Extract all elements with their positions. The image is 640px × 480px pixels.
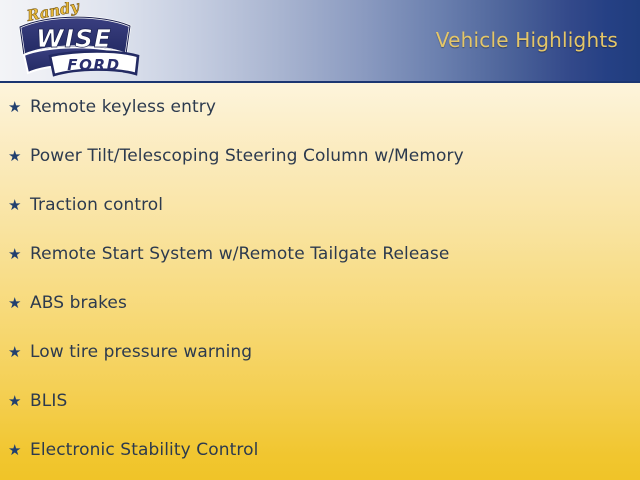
list-item: ★ Electronic Stability Control bbox=[8, 437, 258, 463]
list-item-label: Remote keyless entry bbox=[30, 99, 216, 116]
vehicle-highlights-list: ★ Remote keyless entry ★ Power Tilt/Tele… bbox=[0, 83, 640, 480]
star-bullet-icon: ★ bbox=[8, 247, 30, 262]
list-item-label: Traction control bbox=[30, 197, 163, 214]
star-bullet-icon: ★ bbox=[8, 149, 30, 164]
list-item-label: Low tire pressure warning bbox=[30, 344, 252, 361]
list-item: ★ Remote Start System w/Remote Tailgate … bbox=[8, 241, 449, 267]
list-item: ★ ABS brakes bbox=[8, 290, 127, 316]
list-item-label: Remote Start System w/Remote Tailgate Re… bbox=[30, 246, 449, 263]
star-bullet-icon: ★ bbox=[8, 345, 30, 360]
page-header: WISE Randy FORD Vehicle Highlights bbox=[0, 0, 640, 83]
star-bullet-icon: ★ bbox=[8, 296, 30, 311]
star-bullet-icon: ★ bbox=[8, 394, 30, 409]
list-item: ★ Remote keyless entry bbox=[8, 94, 216, 120]
star-bullet-icon: ★ bbox=[8, 443, 30, 458]
list-item: ★ Low tire pressure warning bbox=[8, 339, 252, 365]
star-bullet-icon: ★ bbox=[8, 100, 30, 115]
list-item: ★ Power Tilt/Telescoping Steering Column… bbox=[8, 143, 464, 169]
list-item-label: Power Tilt/Telescoping Steering Column w… bbox=[30, 148, 464, 165]
page-title: Vehicle Highlights bbox=[436, 28, 618, 52]
svg-text:WISE: WISE bbox=[36, 24, 112, 53]
svg-text:FORD: FORD bbox=[67, 56, 120, 74]
randy-wise-ford-logo: WISE Randy FORD bbox=[6, 2, 144, 82]
list-item-label: ABS brakes bbox=[30, 295, 127, 312]
vehicle-highlights-slide: WISE Randy FORD Vehicle Highlights ★ Rem… bbox=[0, 0, 640, 480]
list-item-label: BLIS bbox=[30, 393, 67, 410]
list-item: ★ BLIS bbox=[8, 388, 67, 414]
star-bullet-icon: ★ bbox=[8, 198, 30, 213]
list-item-label: Electronic Stability Control bbox=[30, 442, 258, 459]
list-item: ★ Traction control bbox=[8, 192, 163, 218]
